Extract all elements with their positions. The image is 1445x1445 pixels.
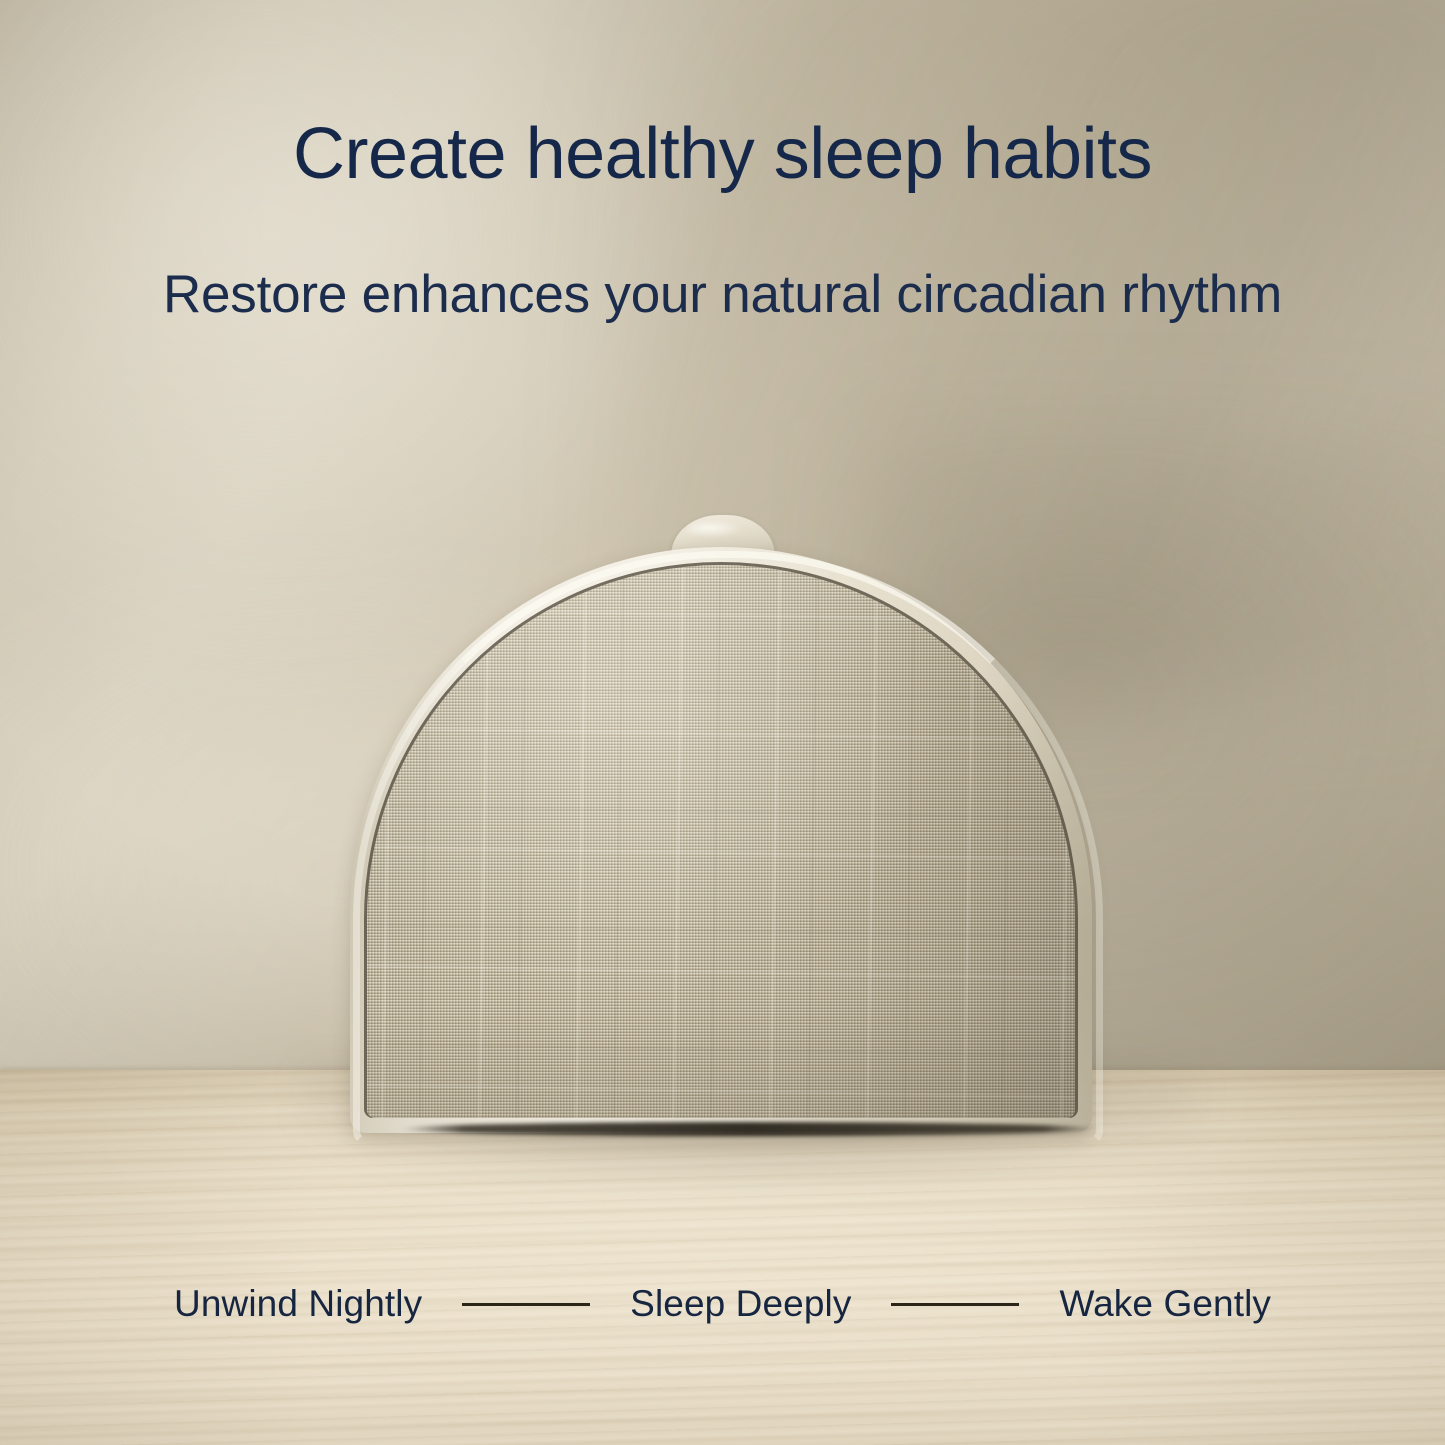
product-feature-image: Create healthy sleep habits Restore enha… — [0, 0, 1445, 1445]
knob-highlight — [687, 522, 743, 537]
benefit-strip: Unwind Nightly Sleep Deeply Wake Gently — [0, 1283, 1445, 1325]
fabric-shading — [367, 565, 1075, 1118]
benefit-divider-1 — [462, 1303, 590, 1306]
page-title: Create healthy sleep habits — [0, 118, 1445, 190]
speaker-fabric-panel — [367, 565, 1075, 1118]
device-contact-shadow — [400, 1122, 1100, 1136]
benefit-label-1: Unwind Nightly — [174, 1283, 422, 1325]
benefit-divider-2 — [891, 1303, 1019, 1306]
benefit-label-2: Sleep Deeply — [630, 1283, 851, 1325]
product-device — [350, 547, 1092, 1133]
benefit-label-3: Wake Gently — [1059, 1283, 1271, 1325]
page-subtitle: Restore enhances your natural circadian … — [0, 258, 1445, 331]
